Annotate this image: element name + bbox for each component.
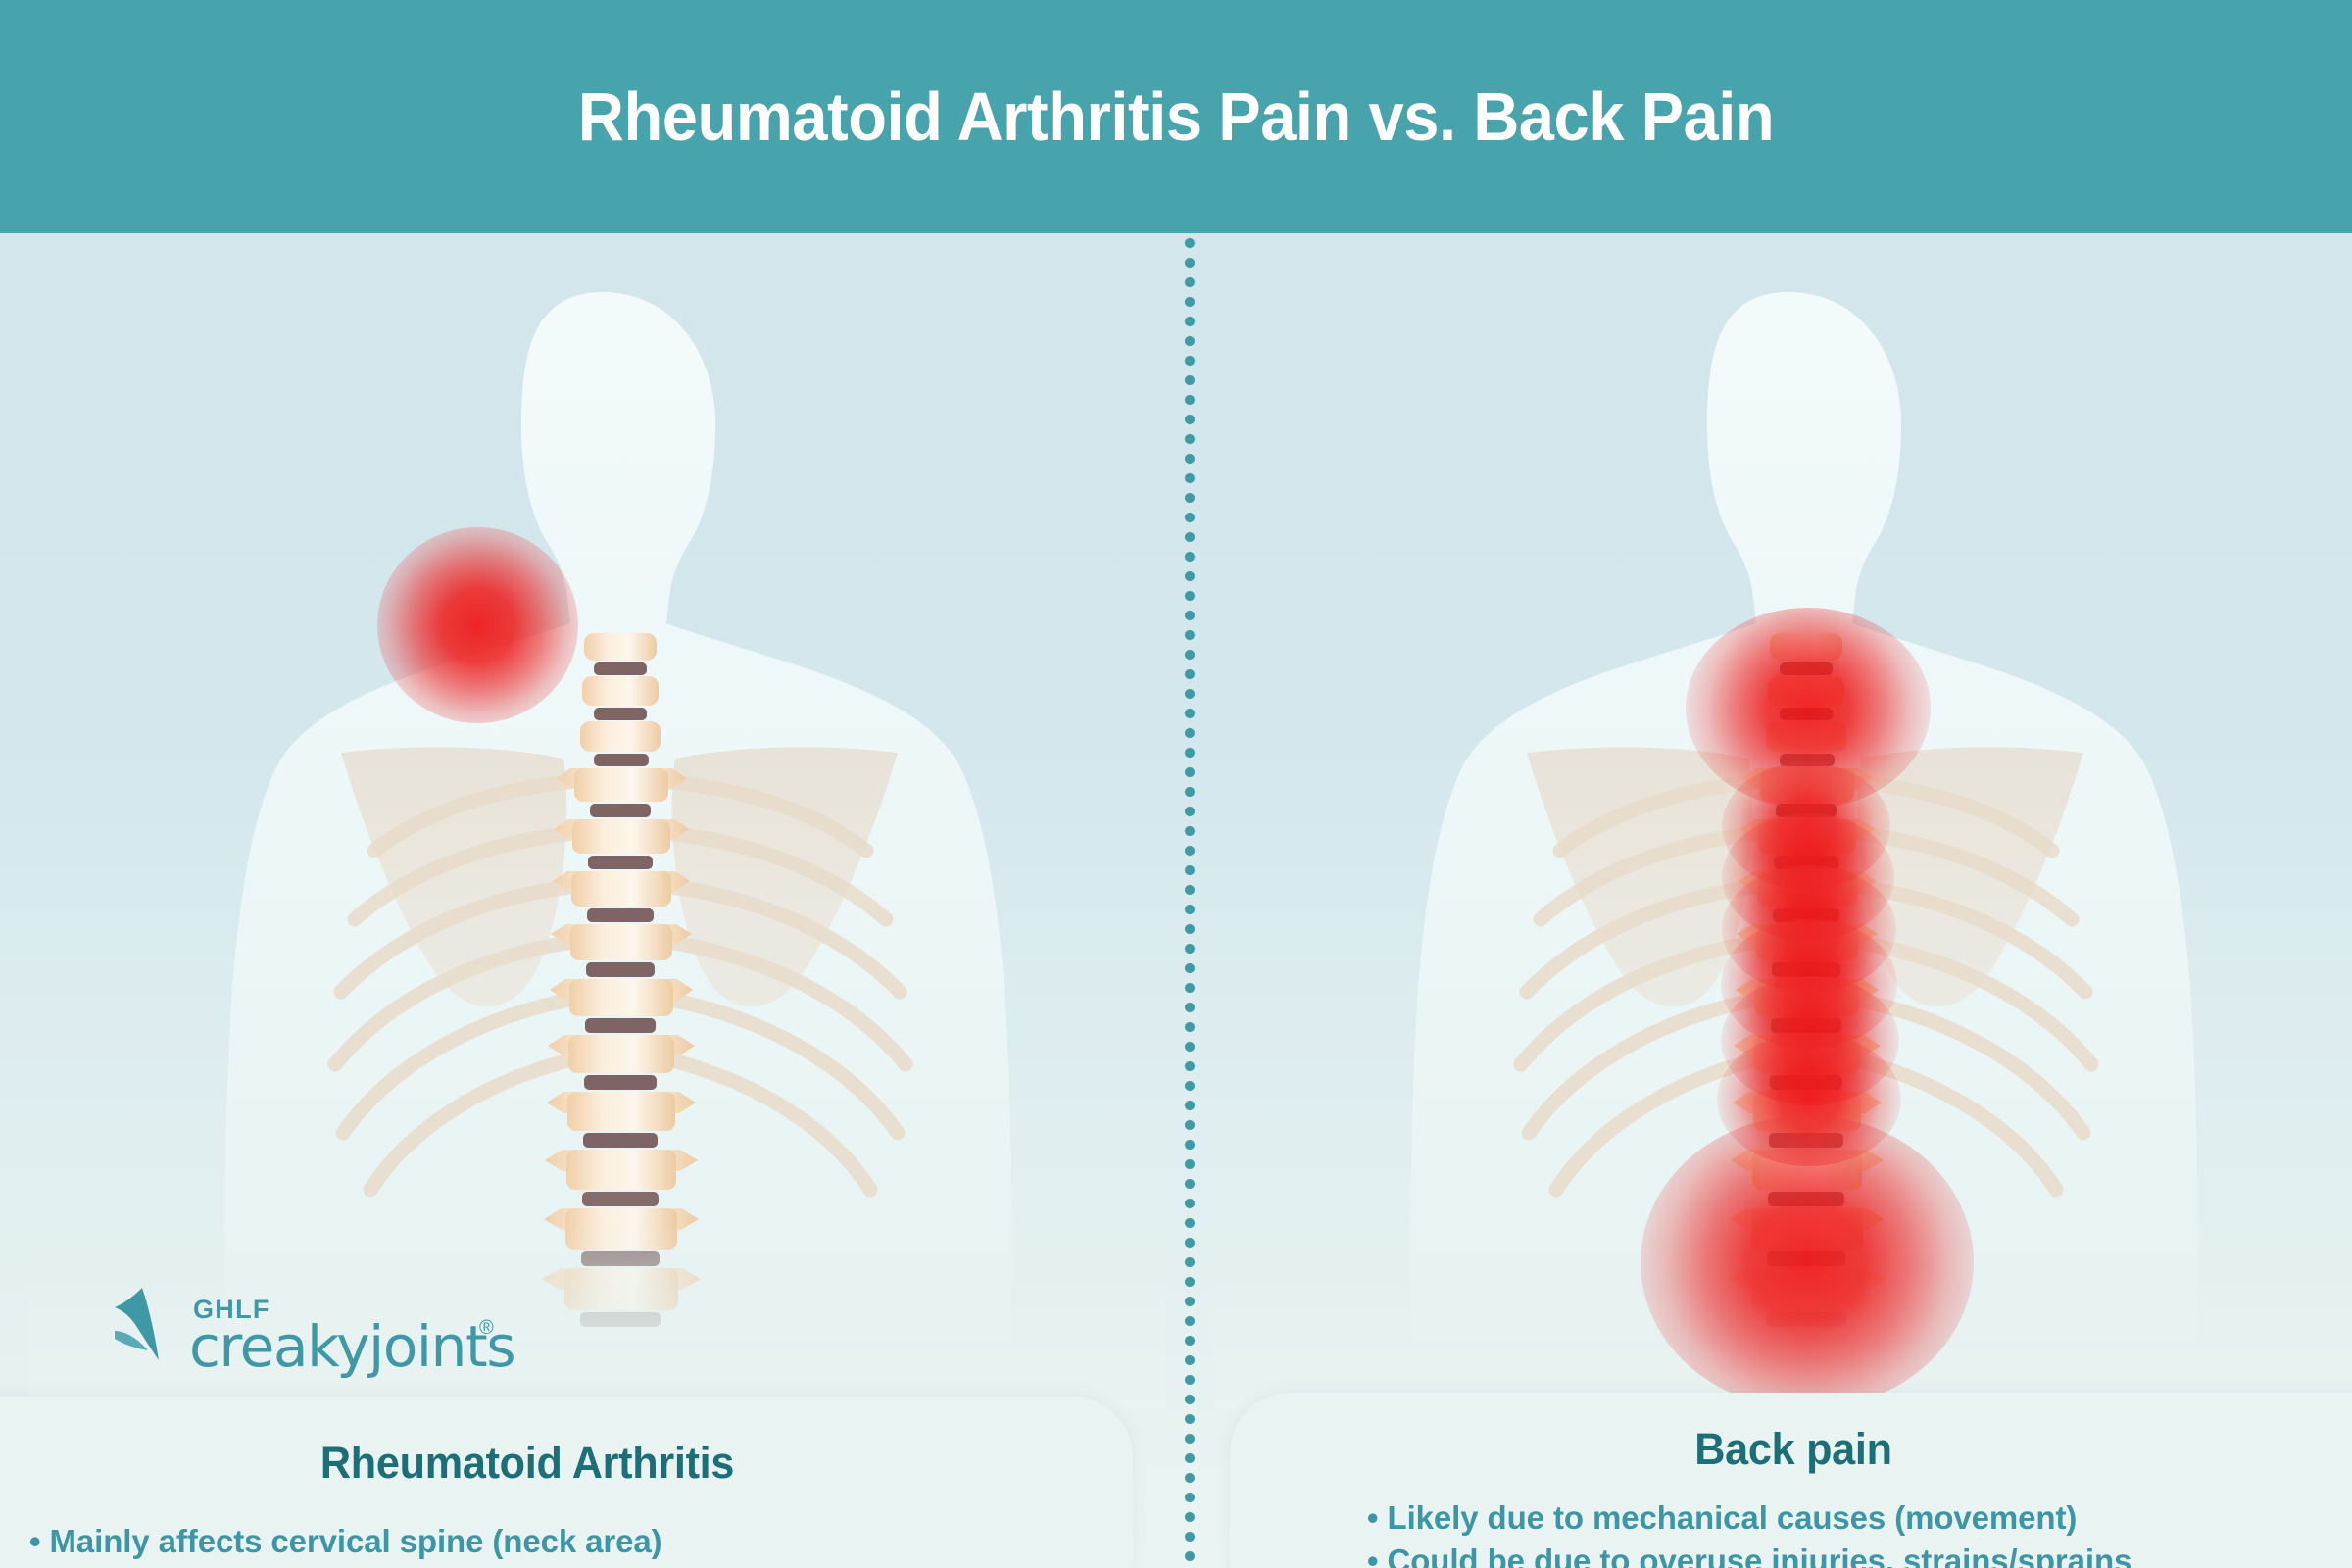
list-item: • Likely due to mechanical causes (movem… [1367, 1496, 2298, 1540]
page-header: Rheumatoid Arthritis Pain vs. Back Pain [0, 0, 2352, 233]
logo-registered-mark: ® [479, 1317, 494, 1340]
list-item: • Could be due to overuse injuries, stra… [1367, 1540, 2298, 1568]
list-item: • Mainly affects cervical spine (neck ar… [29, 1520, 970, 1563]
creakyjoints-logo[interactable]: GHLF creakyjoints ® [113, 1280, 407, 1383]
cervical-vertebrae [580, 633, 661, 766]
left-card-bullet-list: • Mainly affects cervical spine (neck ar… [29, 1520, 970, 1568]
left-panel-figure [29, 233, 1166, 1409]
right-panel-figure [1215, 233, 2352, 1409]
logo-swoosh-icon [113, 1286, 185, 1368]
bottom-fade [1215, 1223, 2352, 1409]
left-card-title: Rheumatoid Arthritis [49, 1438, 1004, 1489]
cervical-vertebrae [1766, 633, 1846, 766]
page-title: Rheumatoid Arthritis Pain vs. Back Pain [578, 77, 1774, 156]
illustration-stage: GHLF creakyjoints ® Rheumatoid Arthritis… [0, 233, 2352, 1568]
left-info-card: Rheumatoid Arthritis • Mainly affects ce… [0, 1396, 1133, 1568]
right-card-bullet-list: • Likely due to mechanical causes (movem… [1367, 1496, 2298, 1568]
right-card-title: Back pain [1252, 1424, 2334, 1475]
list-item: • Low back pain is rare in RA [29, 1563, 970, 1568]
right-info-card: Back pain • Likely due to mechanical cau… [1230, 1393, 2352, 1568]
logo-wordmark: creakyjoints [189, 1313, 514, 1380]
back-pain-spine-illustration [1215, 233, 2352, 1409]
panel-divider-dotted-line [1183, 233, 1197, 1568]
ra-spine-illustration [29, 233, 1166, 1409]
